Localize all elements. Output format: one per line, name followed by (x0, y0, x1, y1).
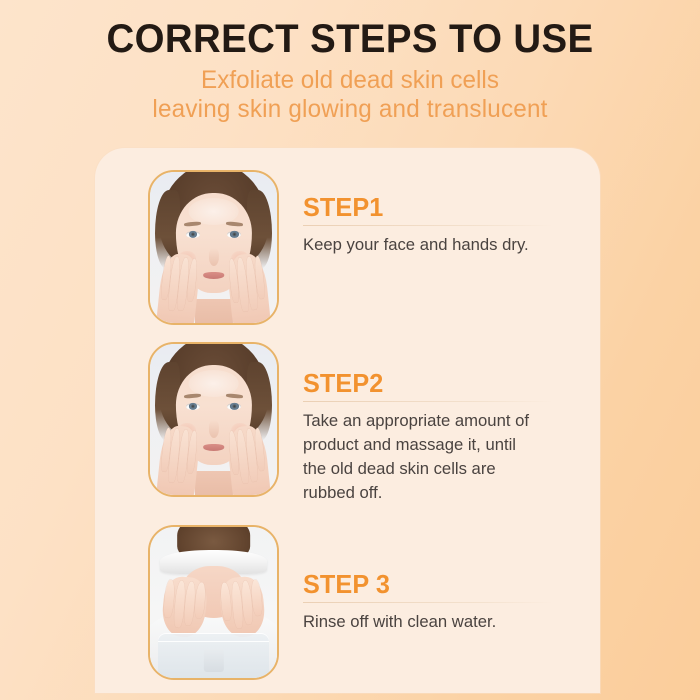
step-divider (303, 401, 553, 402)
step-photo-image (150, 172, 277, 323)
step-text: STEP 3 Rinse off with clean water. (279, 525, 600, 634)
step-item: STEP 3 Rinse off with clean water. (95, 525, 600, 695)
subtitle: Exfoliate old dead skin cells leaving sk… (11, 62, 690, 124)
face-illustration-icon (150, 344, 277, 495)
step-text: STEP1 Keep your face and hands dry. (279, 170, 600, 257)
step-heading: STEP 3 (303, 569, 574, 599)
subtitle-line-1: Exfoliate old dead skin cells (11, 66, 690, 95)
step-photo (148, 342, 279, 497)
step-description: Keep your face and hands dry. (303, 233, 543, 257)
step-description: Take an appropriate amount of product an… (303, 409, 543, 505)
step-description: Rinse off with clean water. (303, 610, 543, 634)
rinse-face-illustration-icon (150, 527, 277, 678)
step-divider (303, 602, 553, 603)
step-heading: STEP2 (303, 368, 574, 398)
step-photo (148, 170, 279, 325)
step-photo (148, 525, 279, 680)
step-item: STEP2 Take an appropriate amount of prod… (95, 342, 600, 525)
steps-list: STEP1 Keep your face and hands dry. (95, 148, 600, 695)
header: CORRECT STEPS TO USE Exfoliate old dead … (0, 0, 700, 124)
step-item: STEP1 Keep your face and hands dry. (95, 170, 600, 342)
subtitle-line-2: leaving skin glowing and translucent (11, 95, 690, 124)
step-divider (303, 225, 553, 226)
step-text: STEP2 Take an appropriate amount of prod… (279, 342, 600, 505)
step-photo-image (150, 344, 277, 495)
page-title: CORRECT STEPS TO USE (14, 0, 686, 62)
step-heading: STEP1 (303, 192, 574, 222)
steps-panel: STEP1 Keep your face and hands dry. (95, 148, 600, 693)
step-photo-image (150, 527, 277, 678)
skincare-steps-infographic: CORRECT STEPS TO USE Exfoliate old dead … (0, 0, 700, 700)
face-illustration-icon (150, 172, 277, 323)
